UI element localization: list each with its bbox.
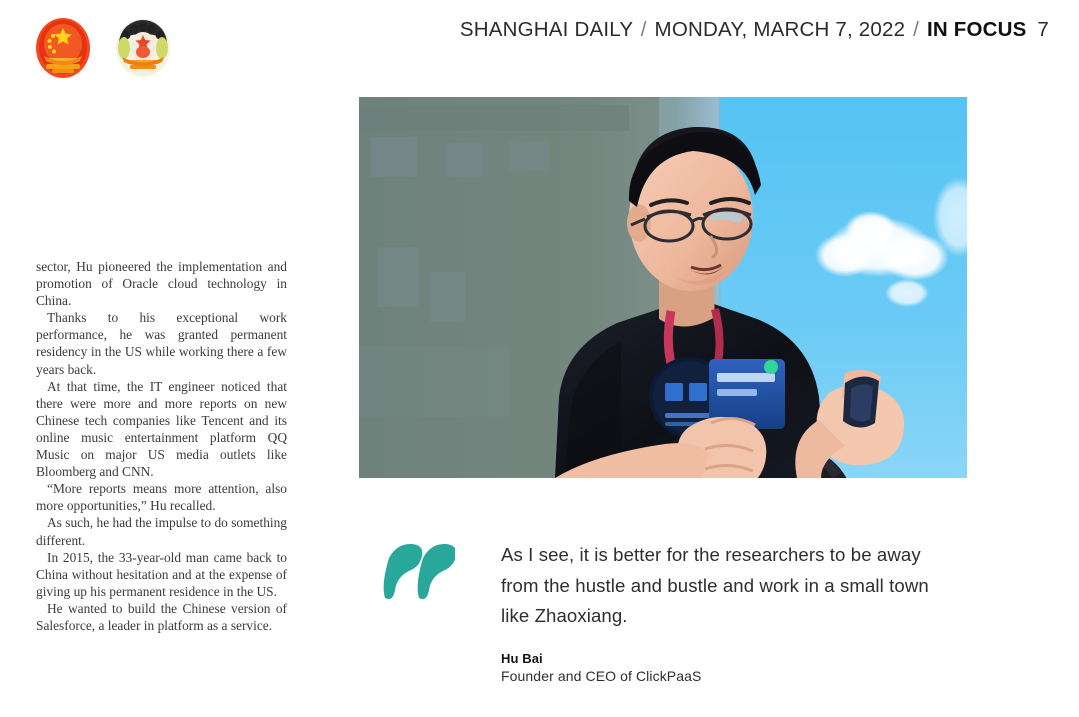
masthead-publication: SHANGHAI DAILY [460, 18, 633, 41]
quote-text: As I see, it is better for the researche… [501, 540, 931, 632]
article-paragraph: In 2015, the 33-year-old man came back t… [36, 549, 287, 600]
masthead-separator-1: / [639, 18, 649, 41]
masthead-date: MONDAY, MARCH 7, 2022 [655, 18, 906, 41]
article-photo [359, 97, 967, 478]
national-emblem-of-china-icon [30, 14, 96, 84]
article-text-column: sector, Hu pioneered the implementation … [36, 258, 287, 634]
article-paragraph: As such, he had the impulse to do someth… [36, 514, 287, 548]
article-paragraph: He wanted to build the Chinese version o… [36, 600, 287, 634]
page-number: 7 [1032, 18, 1049, 41]
cppcc-emblem-icon [110, 14, 176, 84]
emblem-group [30, 14, 176, 84]
article-paragraph: “More reports means more attention, also… [36, 480, 287, 514]
masthead-separator-2: / [911, 18, 921, 41]
article-paragraph: sector, Hu pioneered the implementation … [36, 258, 287, 309]
article-paragraph: Thanks to his exceptional work performan… [36, 309, 287, 377]
quote-mark-icon [383, 542, 455, 604]
attribution-name: Hu Bai [501, 650, 931, 667]
attribution-role: Founder and CEO of ClickPaaS [501, 667, 931, 686]
quote-body: As I see, it is better for the researche… [501, 540, 931, 686]
article-paragraph: At that time, the IT engineer noticed th… [36, 378, 287, 481]
masthead: SHANGHAI DAILY / MONDAY, MARCH 7, 2022 /… [460, 18, 1049, 42]
quote-attribution: Hu Bai Founder and CEO of ClickPaaS [501, 650, 931, 686]
masthead-section: IN FOCUS [927, 18, 1027, 41]
